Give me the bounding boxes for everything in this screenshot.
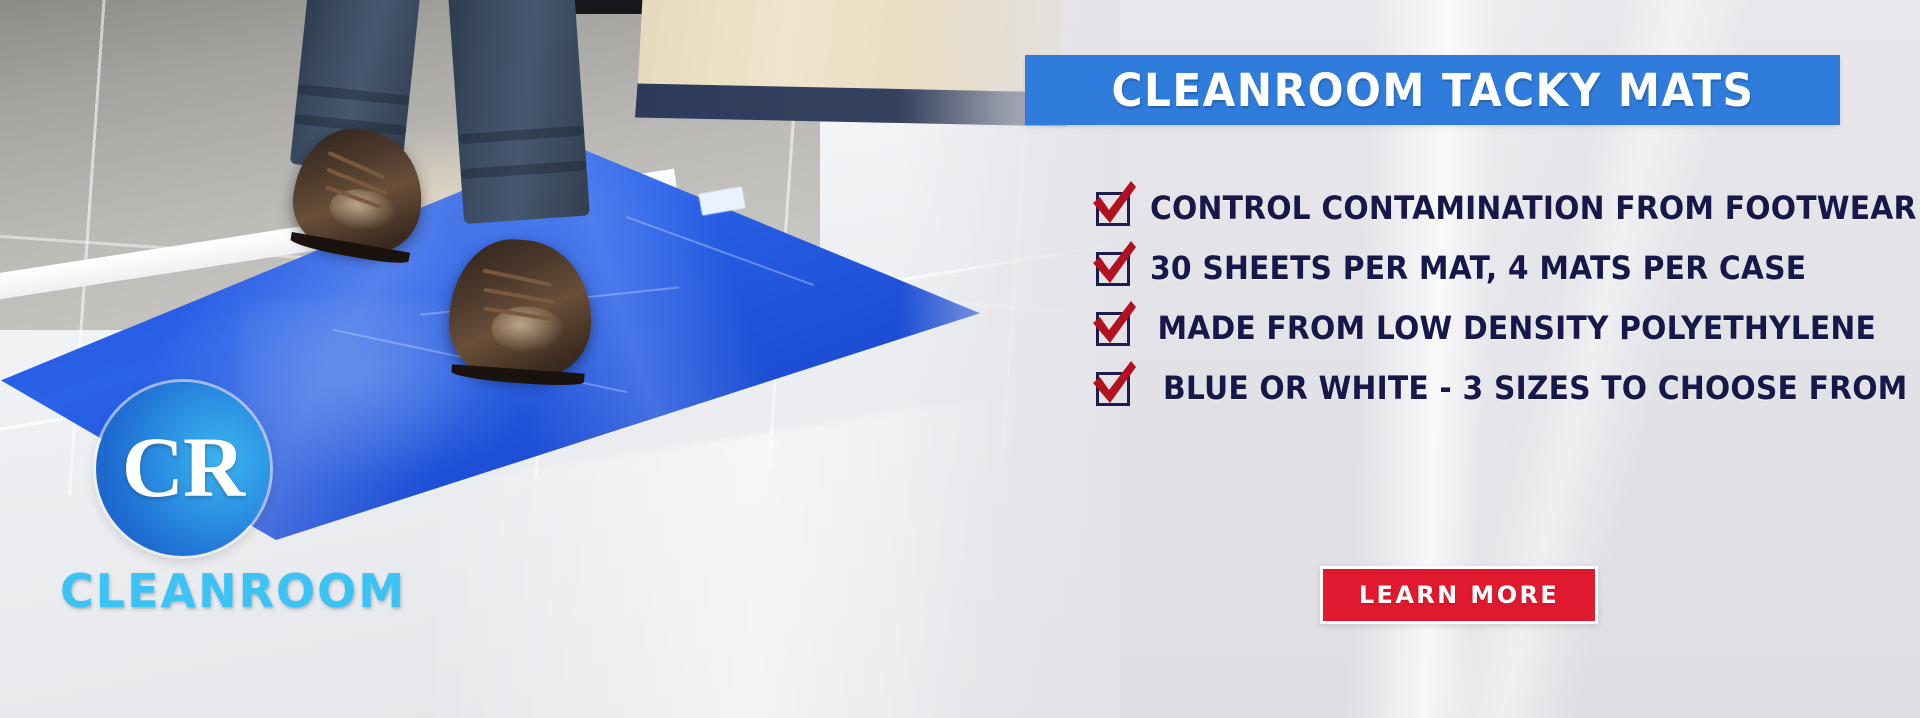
denim-fold (297, 84, 409, 106)
headline-bar: CLEANROOM TACKY MATS (1025, 55, 1840, 125)
logo-wordmark: CLEANROOM (60, 564, 380, 618)
headline-text: CLEANROOM TACKY MATS (1111, 64, 1754, 117)
feature-item: 30 SHEETS PER MAT, 4 MATS PER CASE (1090, 238, 1880, 298)
check-glyph (1090, 239, 1138, 287)
boot-lace (483, 268, 552, 286)
checkmark-icon (1090, 305, 1136, 351)
learn-more-button[interactable]: LEARN MORE (1320, 566, 1598, 624)
denim-fold (460, 160, 586, 179)
right-leg (446, 0, 590, 224)
check-glyph (1090, 359, 1138, 407)
checkmark-icon (1090, 185, 1136, 231)
feature-label: 30 SHEETS PER MAT, 4 MATS PER CASE (1150, 249, 1806, 287)
learn-more-label: LEARN MORE (1359, 581, 1559, 609)
feature-item: CONTROL CONTAMINATION FROM FOOTWEAR (1090, 178, 1880, 238)
check-glyph (1090, 299, 1138, 347)
boot-lace (483, 288, 555, 304)
feature-item: BLUE OR WHITE - 3 SIZES TO CHOOSE FROM (1090, 358, 1880, 418)
checkmark-icon (1090, 365, 1136, 411)
checkmark-icon (1090, 245, 1136, 291)
brand-logo[interactable]: CR CLEANROOM (88, 382, 348, 642)
feature-label: BLUE OR WHITE - 3 SIZES TO CHOOSE FROM (1150, 369, 1907, 407)
check-glyph (1090, 179, 1138, 227)
logo-monogram: CR (122, 424, 244, 510)
feature-item: MADE FROM LOW DENSITY POLYETHYLENE (1090, 298, 1880, 358)
feature-label: CONTROL CONTAMINATION FROM FOOTWEAR (1150, 189, 1917, 227)
logo-circle-badge: CR (96, 382, 270, 556)
feature-label: MADE FROM LOW DENSITY POLYETHYLENE (1150, 309, 1876, 347)
promo-banner: CR CLEANROOM CLEANROOM TACKY MATS CONTRO… (0, 0, 1920, 718)
denim-fold (458, 126, 584, 145)
feature-list: CONTROL CONTAMINATION FROM FOOTWEAR 30 S… (1090, 178, 1880, 418)
